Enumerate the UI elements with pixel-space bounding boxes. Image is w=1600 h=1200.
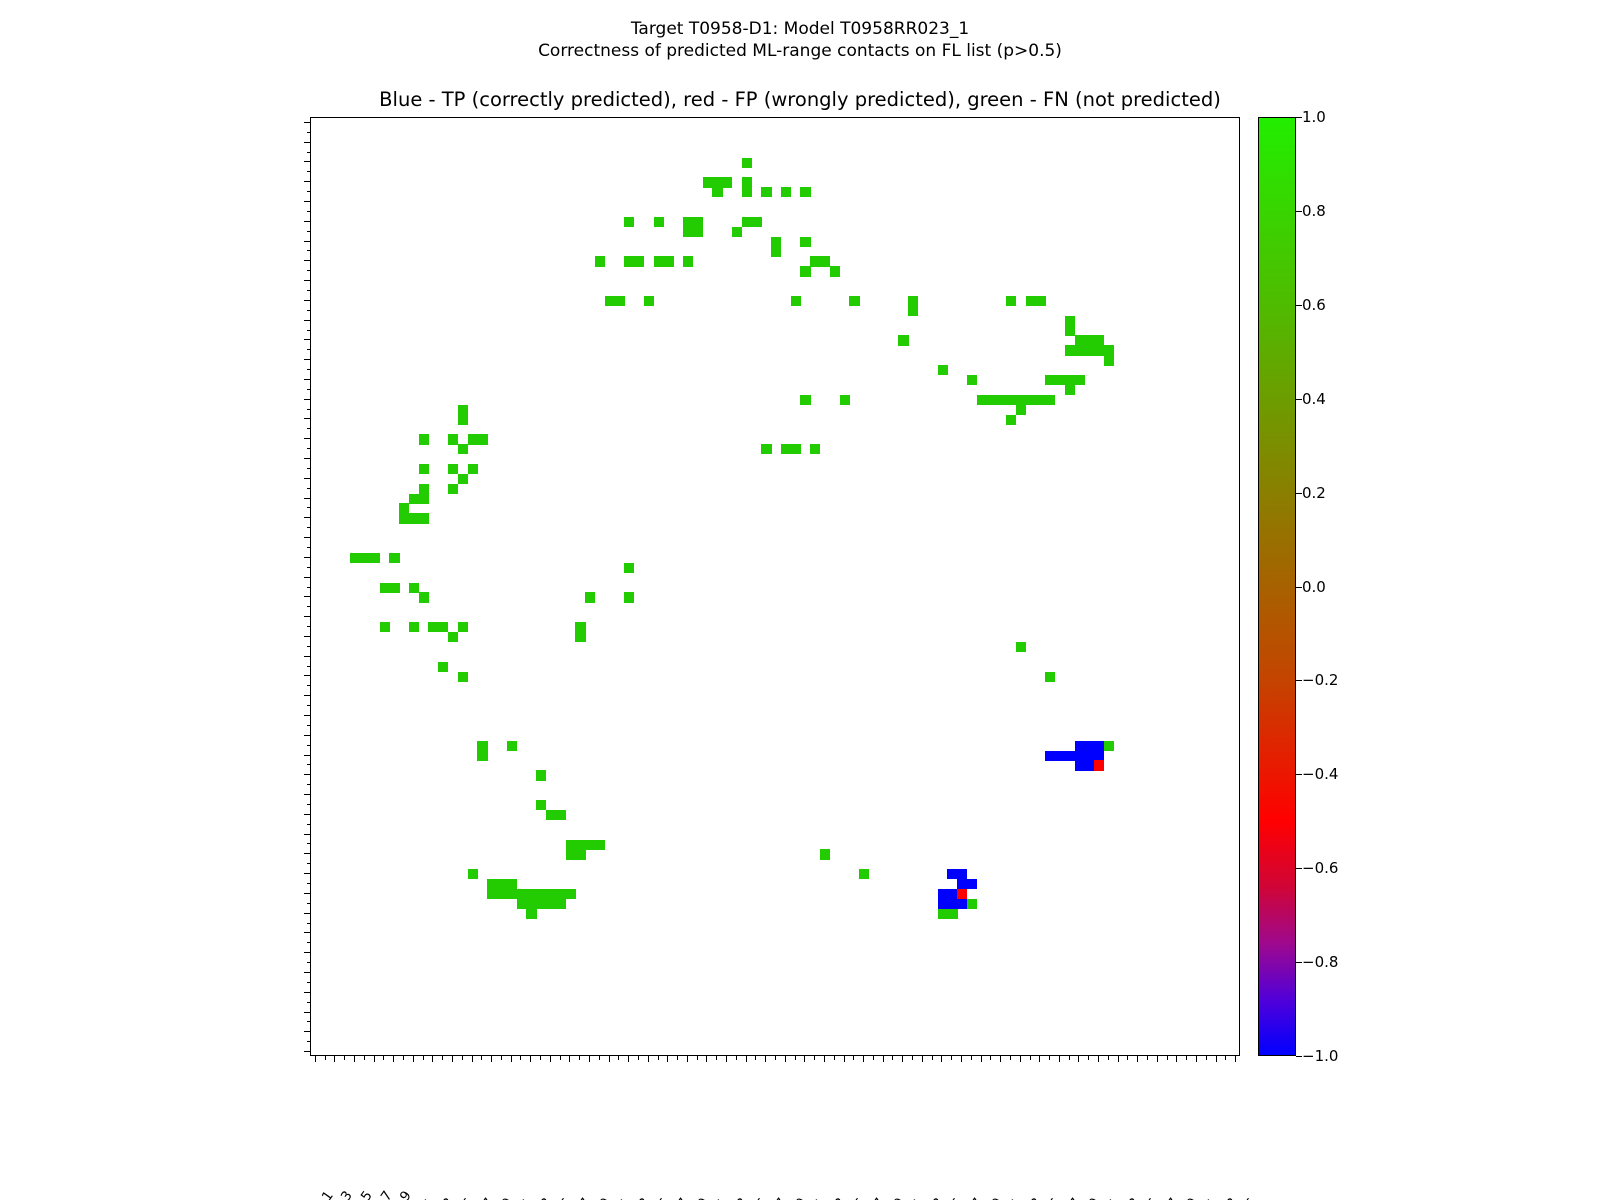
x-minor-tick <box>618 1056 619 1060</box>
colorbar-tick <box>1296 962 1302 963</box>
colorbar-tick-label: −0.2 <box>1302 671 1338 689</box>
x-axis-tick <box>432 1056 433 1062</box>
x-minor-tick <box>1167 1056 1168 1060</box>
colorbar-tick-label: −1.0 <box>1302 1047 1338 1065</box>
x-axis-tick-label: 31 <box>611 1195 634 1200</box>
x-minor-tick <box>971 1056 972 1060</box>
y-axis-tick <box>304 1012 310 1013</box>
x-minor-tick <box>677 1056 678 1060</box>
y-minor-tick <box>307 310 311 311</box>
y-minor-tick <box>307 982 311 983</box>
y-minor-tick <box>307 705 311 706</box>
y-axis-tick <box>304 636 310 637</box>
x-axis-tick <box>589 1056 590 1062</box>
x-axis-tick <box>941 1056 942 1062</box>
y-axis-tick <box>304 221 310 222</box>
x-axis-tick <box>1078 1056 1079 1062</box>
y-axis-tick <box>304 320 310 321</box>
y-axis-tick <box>304 774 310 775</box>
y-axis-tick <box>304 418 310 419</box>
x-minor-tick <box>1030 1056 1031 1060</box>
y-axis-tick <box>304 241 310 242</box>
y-axis-tick <box>304 596 310 597</box>
colorbar-tick-label: 1.0 <box>1302 108 1326 126</box>
x-axis-tick-label: 83 <box>1120 1195 1143 1200</box>
y-axis-tick <box>304 913 310 914</box>
x-axis-tick <box>746 1056 747 1062</box>
y-axis-tick <box>304 498 310 499</box>
y-minor-tick <box>307 448 311 449</box>
colorbar-tick-label: −0.4 <box>1302 765 1338 783</box>
y-axis-tick <box>304 379 310 380</box>
y-minor-tick <box>307 745 311 746</box>
colorbar-tick <box>1296 211 1302 212</box>
y-minor-tick <box>307 231 311 232</box>
x-minor-tick <box>423 1056 424 1060</box>
y-minor-tick <box>307 587 311 588</box>
x-minor-tick <box>755 1056 756 1060</box>
x-axis-tick <box>511 1056 512 1062</box>
axes-layer: 1357911131517192123252729313335373941434… <box>310 117 1240 1056</box>
y-axis-tick <box>304 853 310 854</box>
x-axis-tick <box>1196 1056 1197 1062</box>
y-minor-tick <box>307 1002 311 1003</box>
x-axis-tick <box>609 1056 610 1062</box>
y-minor-tick <box>307 764 311 765</box>
x-axis-tick-label: 63 <box>924 1195 947 1200</box>
x-axis-tick-label: 21 <box>513 1195 536 1200</box>
y-axis-tick <box>304 893 310 894</box>
x-axis-tick-label: 61 <box>905 1195 928 1200</box>
y-minor-tick <box>307 171 311 172</box>
x-axis-tick-label: 91 <box>1198 1195 1221 1200</box>
colorbar-tick <box>1296 1056 1302 1057</box>
x-axis-tick-label: 13 <box>435 1195 458 1200</box>
x-axis-tick-label: 35 <box>650 1195 673 1200</box>
x-minor-tick <box>344 1056 345 1060</box>
y-axis-tick <box>304 300 310 301</box>
x-minor-tick <box>873 1056 874 1060</box>
contact-map-figure: Target T0958-D1: Model T0958RR023_1 Corr… <box>0 0 1600 1200</box>
y-minor-tick <box>307 349 311 350</box>
x-axis-tick-label: 37 <box>670 1195 693 1200</box>
y-minor-tick <box>307 409 311 410</box>
y-axis-tick <box>304 142 310 143</box>
title-line-2: Correctness of predicted ML-range contac… <box>0 40 1600 62</box>
x-minor-tick <box>481 1056 482 1060</box>
y-axis-tick <box>304 814 310 815</box>
y-minor-tick <box>307 369 311 370</box>
x-axis-tick-label: 51 <box>807 1195 830 1200</box>
x-minor-tick <box>1049 1056 1050 1060</box>
y-axis-tick <box>304 1051 310 1052</box>
y-axis-tick <box>304 201 310 202</box>
y-axis-tick <box>304 537 310 538</box>
x-axis-tick-label: 45 <box>748 1195 771 1200</box>
x-minor-tick <box>1010 1056 1011 1060</box>
y-minor-tick <box>307 152 311 153</box>
y-axis-tick <box>304 359 310 360</box>
y-axis-tick <box>304 715 310 716</box>
x-minor-tick <box>364 1056 365 1060</box>
x-axis-tick-label: 57 <box>866 1195 889 1200</box>
x-minor-tick <box>892 1056 893 1060</box>
y-minor-tick <box>307 804 311 805</box>
x-minor-tick <box>834 1056 835 1060</box>
x-axis-tick <box>413 1056 414 1062</box>
y-axis-tick <box>304 735 310 736</box>
x-axis-tick-label: 43 <box>729 1195 752 1200</box>
x-axis-tick-label: 29 <box>591 1195 614 1200</box>
x-axis-tick-label: 55 <box>846 1195 869 1200</box>
x-minor-tick <box>638 1056 639 1060</box>
y-axis-tick <box>304 794 310 795</box>
y-axis-tick <box>304 675 310 676</box>
y-minor-tick <box>307 923 311 924</box>
x-axis-tick <box>530 1056 531 1062</box>
colorbar-tick <box>1296 868 1302 869</box>
y-axis-tick <box>304 181 310 182</box>
y-axis-tick <box>304 873 310 874</box>
x-minor-tick <box>932 1056 933 1060</box>
y-minor-tick <box>307 824 311 825</box>
x-axis-tick <box>1137 1056 1138 1062</box>
y-axis-tick <box>304 695 310 696</box>
x-axis-tick <box>452 1056 453 1062</box>
x-axis-tick-label: 73 <box>1022 1195 1045 1200</box>
colorbar-tick-label: −0.6 <box>1302 859 1338 877</box>
x-axis-tick <box>1039 1056 1040 1062</box>
x-axis-tick-label: 95 <box>1238 1195 1261 1200</box>
x-minor-tick <box>520 1056 521 1060</box>
x-axis-tick <box>374 1056 375 1062</box>
y-axis-tick <box>304 478 310 479</box>
x-minor-tick <box>912 1056 913 1060</box>
colorbar-tick-label: 0.6 <box>1302 296 1326 314</box>
y-axis-tick <box>304 260 310 261</box>
y-axis-tick <box>304 952 310 953</box>
x-minor-tick <box>951 1056 952 1060</box>
y-minor-tick <box>307 1021 311 1022</box>
colorbar-tick <box>1296 493 1302 494</box>
x-minor-tick <box>1108 1056 1109 1060</box>
x-minor-tick <box>1127 1056 1128 1060</box>
x-axis-tick <box>354 1056 355 1062</box>
x-minor-tick <box>442 1056 443 1060</box>
x-axis-tick <box>648 1056 649 1062</box>
y-minor-tick <box>307 883 311 884</box>
x-minor-tick <box>990 1056 991 1060</box>
y-minor-tick <box>307 1041 311 1042</box>
colorbar-tick-label: 0.0 <box>1302 578 1326 596</box>
y-minor-tick <box>307 468 311 469</box>
y-minor-tick <box>307 903 311 904</box>
x-axis-tick-label: 69 <box>983 1195 1006 1200</box>
y-axis-tick <box>304 755 310 756</box>
colorbar-tick-label: 0.4 <box>1302 390 1326 408</box>
y-axis-tick <box>304 616 310 617</box>
y-minor-tick <box>307 863 311 864</box>
x-axis-tick-label: 27 <box>572 1195 595 1200</box>
x-axis-tick <box>785 1056 786 1062</box>
y-minor-tick <box>307 784 311 785</box>
colorbar-tick <box>1296 680 1302 681</box>
x-minor-tick <box>1147 1056 1148 1060</box>
y-minor-tick <box>307 290 311 291</box>
y-minor-tick <box>307 942 311 943</box>
y-axis-tick <box>304 557 310 558</box>
colorbar-tick <box>1296 117 1302 118</box>
y-axis-tick <box>304 834 310 835</box>
x-axis-tick-label: 53 <box>826 1195 849 1200</box>
x-minor-tick <box>540 1056 541 1060</box>
x-minor-tick <box>579 1056 580 1060</box>
x-axis-tick <box>824 1056 825 1062</box>
y-minor-tick <box>307 527 311 528</box>
title-line-1: Target T0958-D1: Model T0958RR023_1 <box>0 18 1600 40</box>
y-axis-tick <box>304 517 310 518</box>
x-minor-tick <box>599 1056 600 1060</box>
y-minor-tick <box>307 250 311 251</box>
x-minor-tick <box>325 1056 326 1060</box>
y-minor-tick <box>307 626 311 627</box>
x-axis-tick-label: 67 <box>963 1195 986 1200</box>
x-axis-tick-label: 71 <box>1003 1195 1026 1200</box>
x-axis-tick <box>1176 1056 1177 1062</box>
x-axis-tick-label: 1 <box>319 1188 337 1200</box>
y-axis-tick <box>304 972 310 973</box>
x-minor-tick <box>1186 1056 1187 1060</box>
x-axis-tick <box>569 1056 570 1062</box>
x-axis-tick <box>981 1056 982 1062</box>
x-minor-tick <box>1206 1056 1207 1060</box>
x-axis-tick-label: 15 <box>454 1195 477 1200</box>
y-minor-tick <box>307 843 311 844</box>
figure-title: Target T0958-D1: Model T0958RR023_1 Corr… <box>0 18 1600 62</box>
x-axis-tick <box>1000 1056 1001 1062</box>
x-axis-tick-label: 87 <box>1159 1195 1182 1200</box>
y-axis-tick <box>304 399 310 400</box>
y-axis-tick <box>304 992 310 993</box>
colorbar-tick-label: 0.8 <box>1302 202 1326 220</box>
colorbar-gradient <box>1259 118 1295 1055</box>
x-axis-tick <box>315 1056 316 1062</box>
x-axis-tick-label: 3 <box>338 1188 356 1200</box>
y-minor-tick <box>307 270 311 271</box>
x-axis-tick-label: 47 <box>768 1195 791 1200</box>
y-minor-tick <box>307 191 311 192</box>
x-axis-tick-label: 77 <box>1061 1195 1084 1200</box>
y-axis-tick <box>304 577 310 578</box>
x-minor-tick <box>1069 1056 1070 1060</box>
x-axis-tick <box>1098 1056 1099 1062</box>
x-minor-tick <box>658 1056 659 1060</box>
color-legend-text: Blue - TP (correctly predicted), red - F… <box>0 88 1600 111</box>
y-minor-tick <box>307 725 311 726</box>
x-axis-tick <box>1118 1056 1119 1062</box>
x-axis-tick <box>393 1056 394 1062</box>
x-minor-tick <box>1225 1056 1226 1060</box>
colorbar-tick <box>1296 774 1302 775</box>
colorbar-tick <box>1296 587 1302 588</box>
y-axis-tick <box>304 438 310 439</box>
x-minor-tick <box>736 1056 737 1060</box>
colorbar-tick-label: 0.2 <box>1302 484 1326 502</box>
x-axis-tick <box>765 1056 766 1062</box>
y-minor-tick <box>307 428 311 429</box>
colorbar-tick <box>1296 305 1302 306</box>
x-axis-tick-label: 85 <box>1140 1195 1163 1200</box>
x-minor-tick <box>853 1056 854 1060</box>
x-axis-tick <box>491 1056 492 1062</box>
x-axis-tick <box>922 1056 923 1062</box>
x-axis-tick <box>961 1056 962 1062</box>
x-axis-tick-label: 65 <box>944 1195 967 1200</box>
y-minor-tick <box>307 606 311 607</box>
x-minor-tick <box>501 1056 502 1060</box>
x-axis-tick <box>844 1056 845 1062</box>
y-minor-tick <box>307 547 311 548</box>
y-minor-tick <box>307 962 311 963</box>
x-minor-tick <box>814 1056 815 1060</box>
x-minor-tick <box>697 1056 698 1060</box>
y-minor-tick <box>307 389 311 390</box>
x-axis-tick <box>883 1056 884 1062</box>
y-minor-tick <box>307 488 311 489</box>
x-minor-tick <box>403 1056 404 1060</box>
y-minor-tick <box>307 132 311 133</box>
x-minor-tick <box>795 1056 796 1060</box>
x-axis-tick-label: 9 <box>397 1188 415 1200</box>
y-minor-tick <box>307 646 311 647</box>
x-axis-tick <box>863 1056 864 1062</box>
y-minor-tick <box>307 211 311 212</box>
x-axis-tick-label: 59 <box>885 1195 908 1200</box>
y-axis-tick <box>304 1031 310 1032</box>
y-minor-tick <box>307 666 311 667</box>
x-minor-tick <box>462 1056 463 1060</box>
x-minor-tick <box>560 1056 561 1060</box>
x-axis-tick-label: 75 <box>1042 1195 1065 1200</box>
y-minor-tick <box>307 685 311 686</box>
x-axis-tick-label: 7 <box>377 1188 395 1200</box>
x-axis-tick-label: 23 <box>533 1195 556 1200</box>
y-axis-tick <box>304 458 310 459</box>
x-axis-tick-label: 33 <box>631 1195 654 1200</box>
x-axis-tick <box>550 1056 551 1062</box>
x-axis-tick-label: 93 <box>1218 1195 1241 1200</box>
x-axis-tick-label: 11 <box>415 1195 438 1200</box>
x-axis-tick <box>1020 1056 1021 1062</box>
x-axis-tick <box>334 1056 335 1062</box>
x-minor-tick <box>716 1056 717 1060</box>
x-axis-tick <box>1157 1056 1158 1062</box>
x-axis-tick <box>628 1056 629 1062</box>
y-minor-tick <box>307 567 311 568</box>
colorbar-tick-label: −0.8 <box>1302 953 1338 971</box>
x-minor-tick <box>1088 1056 1089 1060</box>
x-axis-tick-label: 89 <box>1179 1195 1202 1200</box>
x-axis-tick-label: 19 <box>494 1195 517 1200</box>
x-axis-tick-label: 39 <box>689 1195 712 1200</box>
y-minor-tick <box>307 507 311 508</box>
x-axis-tick-label: 25 <box>552 1195 575 1200</box>
x-axis-tick <box>726 1056 727 1062</box>
x-axis-tick-label: 81 <box>1101 1195 1124 1200</box>
y-axis-tick <box>304 122 310 123</box>
y-axis-tick <box>304 932 310 933</box>
x-axis-tick-label: 17 <box>474 1195 497 1200</box>
x-axis-tick <box>1216 1056 1217 1062</box>
x-axis-tick <box>667 1056 668 1062</box>
x-axis-tick <box>472 1056 473 1062</box>
x-axis-tick <box>706 1056 707 1062</box>
x-axis-tick <box>804 1056 805 1062</box>
x-axis-tick <box>687 1056 688 1062</box>
y-axis-tick <box>304 280 310 281</box>
x-axis-tick-label: 49 <box>787 1195 810 1200</box>
x-axis-tick-label: 79 <box>1081 1195 1104 1200</box>
x-axis-tick-label: 41 <box>709 1195 732 1200</box>
x-minor-tick <box>383 1056 384 1060</box>
y-axis-tick <box>304 339 310 340</box>
y-axis-tick <box>304 161 310 162</box>
colorbar <box>1258 117 1296 1056</box>
x-axis-tick <box>1059 1056 1060 1062</box>
y-axis-tick <box>304 656 310 657</box>
y-minor-tick <box>307 330 311 331</box>
x-minor-tick <box>775 1056 776 1060</box>
x-axis-tick-label: 5 <box>358 1188 376 1200</box>
x-axis-tick <box>1235 1056 1236 1062</box>
x-axis-tick <box>902 1056 903 1062</box>
colorbar-tick <box>1296 399 1302 400</box>
